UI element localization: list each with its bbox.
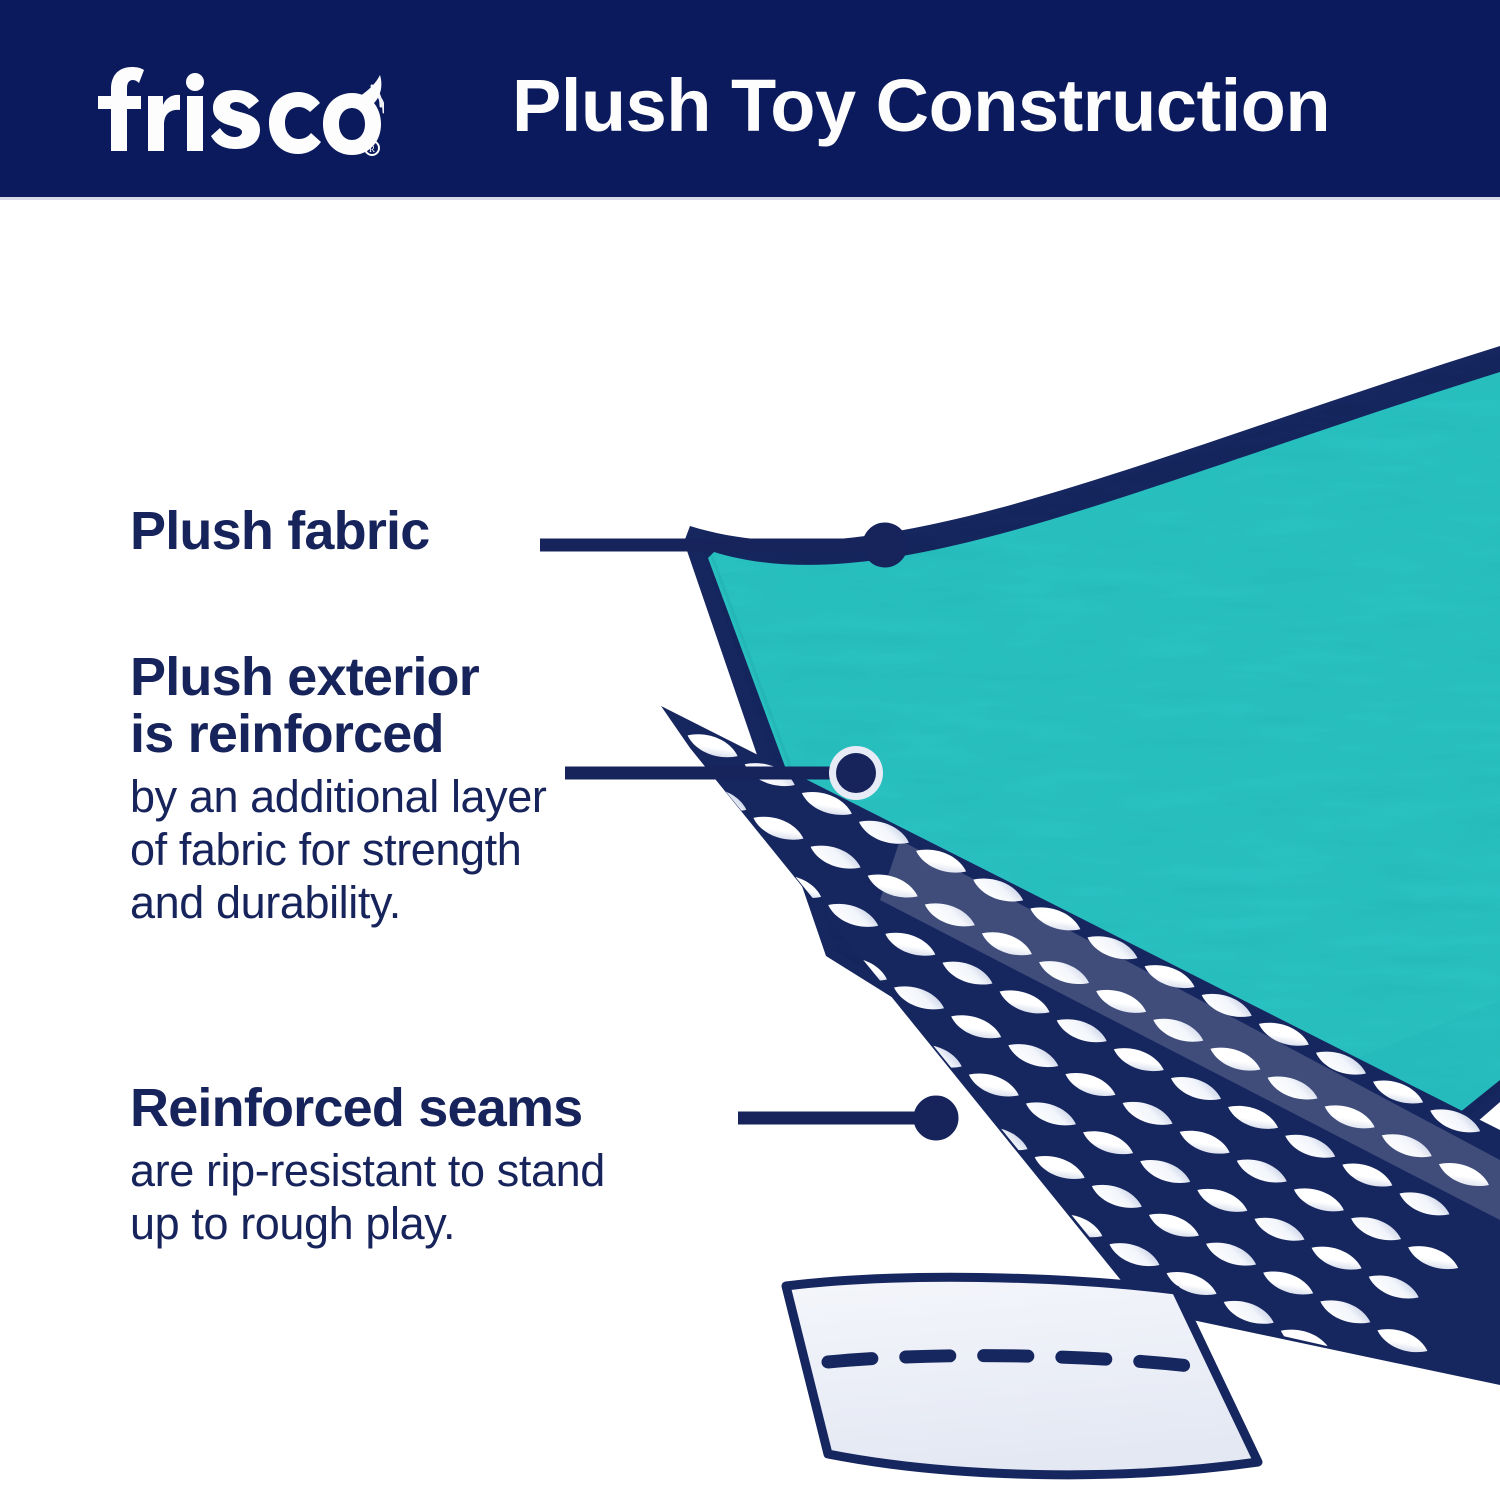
callout-body-line: up to rough play. bbox=[130, 1198, 605, 1251]
callout-body-line: and durability. bbox=[130, 877, 546, 930]
reinforced-seam-flap bbox=[786, 1277, 1258, 1475]
callout-body-line: are rip-resistant to stand bbox=[130, 1145, 605, 1198]
infographic-page: R Plush Toy Construction bbox=[0, 0, 1500, 1500]
frisco-logo: R bbox=[84, 52, 384, 160]
page-title: Plush Toy Construction bbox=[512, 50, 1412, 160]
callout-heading-line: Plush fabric bbox=[130, 503, 429, 560]
header-bar: R Plush Toy Construction bbox=[0, 0, 1500, 200]
callout-heading-line: Reinforced seams bbox=[130, 1080, 605, 1137]
callout-plush-exterior: Plush exterior is reinforced by an addit… bbox=[130, 649, 546, 929]
callout-heading-line: is reinforced bbox=[130, 706, 546, 763]
callout-plush-fabric: Plush fabric bbox=[130, 503, 429, 560]
callout-body-line: by an additional layer bbox=[130, 771, 546, 824]
svg-text:R: R bbox=[369, 144, 375, 154]
callout-heading-line: Plush exterior bbox=[130, 649, 546, 706]
callout-body-line: of fabric for strength bbox=[130, 824, 546, 877]
callout-reinforced-seams: Reinforced seams are rip-resistant to st… bbox=[130, 1080, 605, 1251]
